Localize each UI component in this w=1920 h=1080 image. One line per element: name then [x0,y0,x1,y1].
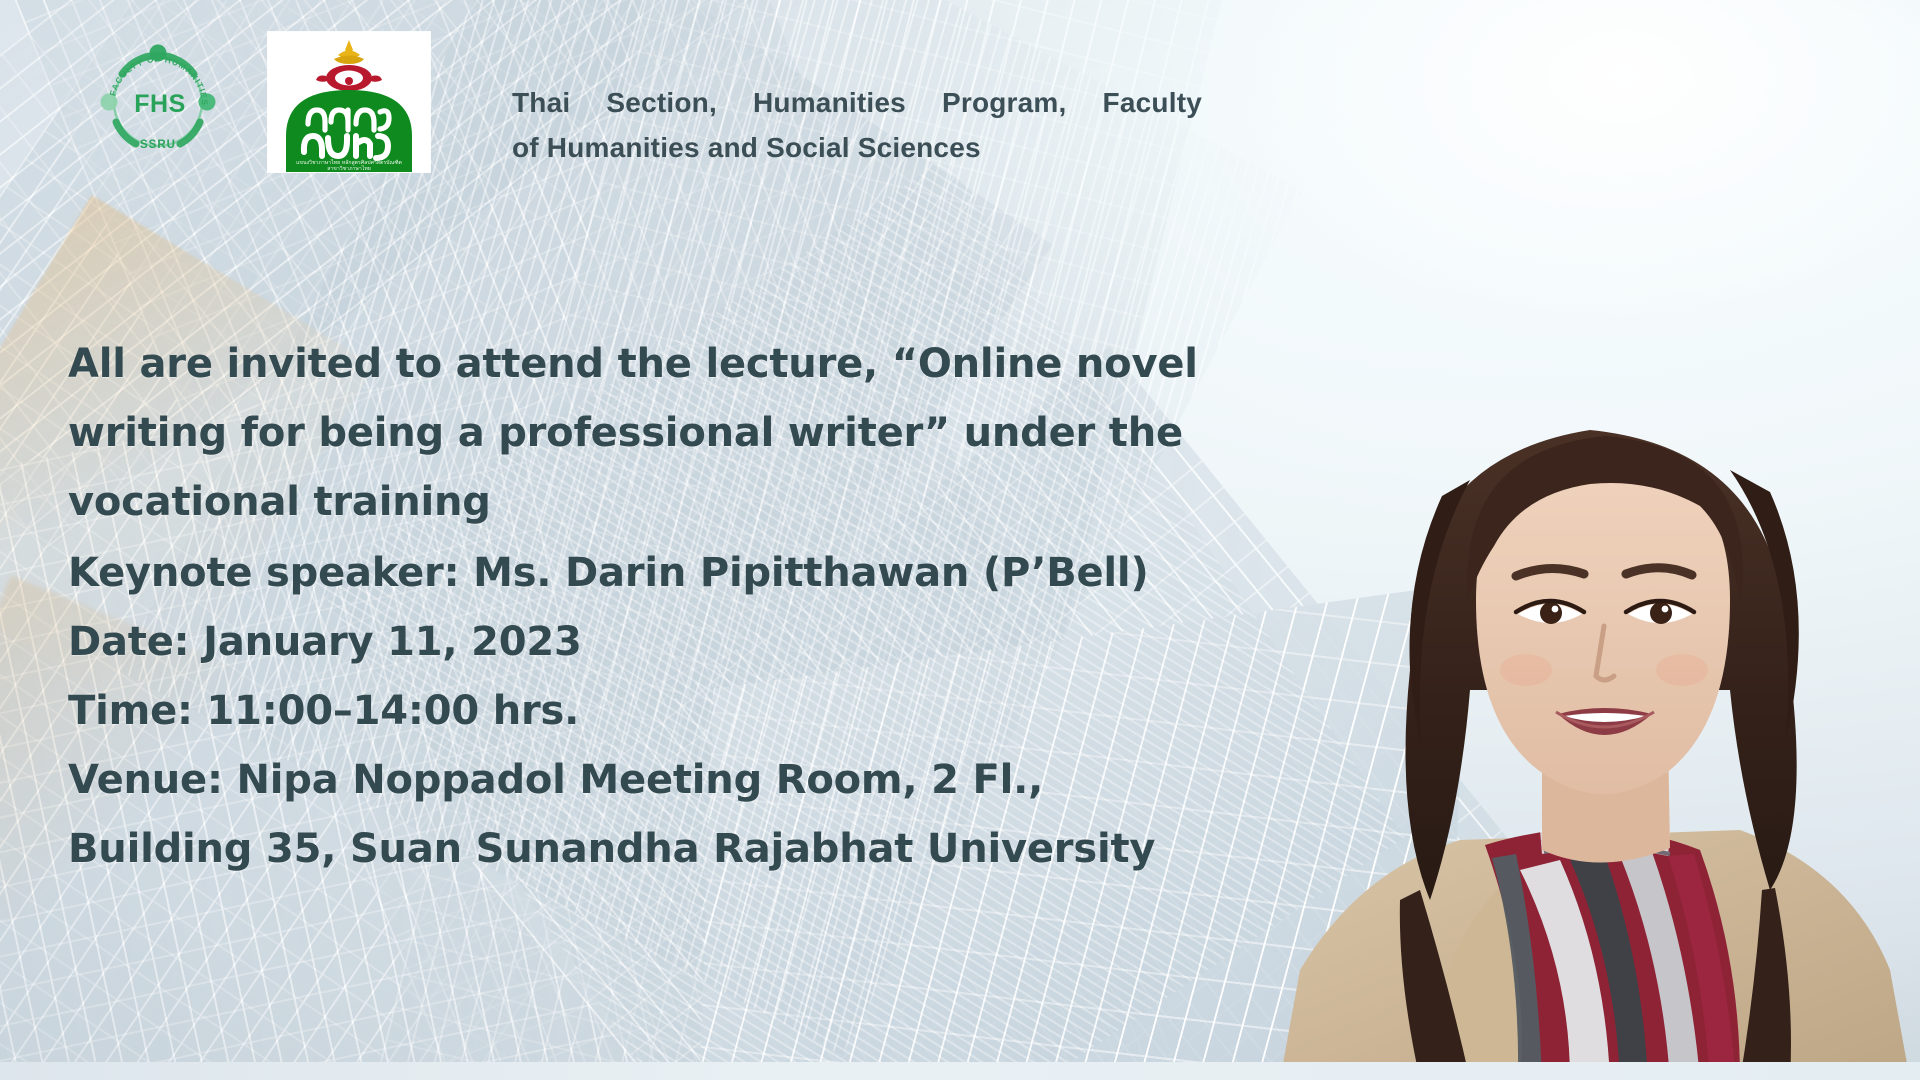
time-line: Time: 11:00–14:00 hrs. [68,677,1278,746]
poster-canvas: FACULTY OF HUMANITIES AND SOCIAL SCIENCE… [0,0,1920,1080]
bottom-edge-strip [0,1062,1920,1080]
announcement-block: All are invited to attend the lecture, “… [68,330,1278,886]
svg-text:FHS: FHS [134,90,186,118]
lecture-title-paragraph: All are invited to attend the lecture, “… [68,330,1278,537]
organization-name: Thai Section, Humanities Program, Facult… [512,80,1232,170]
svg-text:SSRU: SSRU [140,139,176,151]
thai-language-program-logo: แขนงวิชาภาษาไทย หลักสูตรศิลปศาสตรบัณฑิต … [268,32,430,172]
keynote-speaker-line: Keynote speaker: Ms. Darin Pipitthawan (… [68,539,1278,608]
venue-line-1: Venue: Nipa Noppadol Meeting Room, 2 Fl.… [68,746,1278,815]
organization-line-1: Thai Section, Humanities Program, Facult… [512,80,1202,125]
venue-line-2: Building 35, Suan Sunandha Rajabhat Univ… [68,815,1278,884]
organization-line-2: of Humanities and Social Sciences [512,125,1232,170]
date-line: Date: January 11, 2023 [68,608,1278,677]
speaker-portrait [1280,270,1920,1080]
announcement-line: writing for being a professional writer”… [68,399,1278,468]
svg-text:สาขาวิชาภาษาไทย: สาขาวิชาภาษาไทย [327,164,371,172]
poster-header: FACULTY OF HUMANITIES AND SOCIAL SCIENCE… [0,0,1920,200]
svg-text:แขนงวิชาภาษาไทย หลักสูตรศิลปศา: แขนงวิชาภาษาไทย หลักสูตรศิลปศาสตรบัณฑิต [296,158,402,166]
fhs-faculty-logo: FACULTY OF HUMANITIES AND SOCIAL SCIENCE… [92,36,224,168]
event-details-paragraph: Keynote speaker: Ms. Darin Pipitthawan (… [68,539,1278,884]
announcement-line: All are invited to attend the lecture, “… [68,330,1278,399]
announcement-line: vocational training [68,468,1278,537]
